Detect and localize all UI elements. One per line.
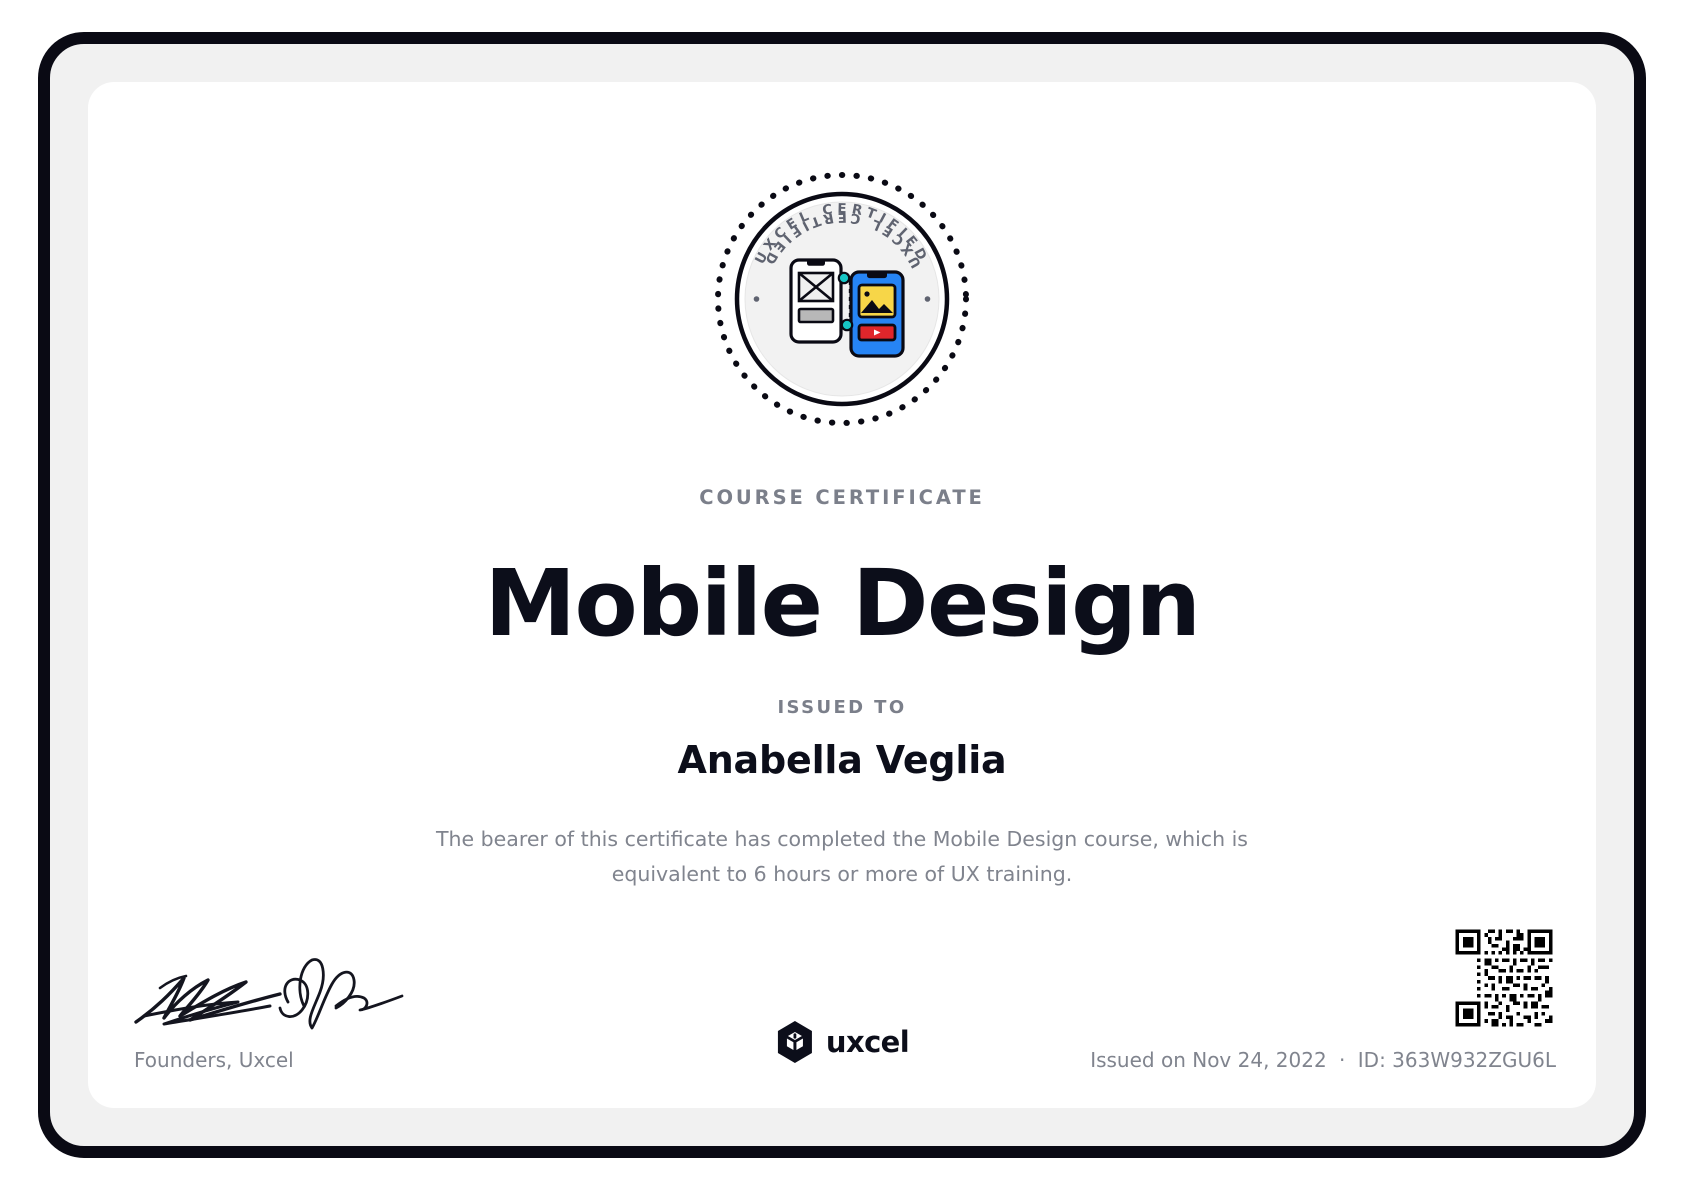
meta-separator: ·: [1333, 1048, 1351, 1072]
certificate-id-text: ID: 363W932ZGU6L: [1358, 1048, 1556, 1072]
issuance-block: Issued on Nov 24, 2022 · ID: 363W932ZGU6…: [1090, 926, 1556, 1072]
uxcel-certified-seal-icon: UXCEL CERTIFIED UXCEL CERTIFIED: [711, 168, 973, 430]
certificate-panel: UXCEL CERTIFIED UXCEL CERTIFIED: [88, 82, 1596, 1108]
issuance-meta: Issued on Nov 24, 2022 · ID: 363W932ZGU6…: [1090, 1048, 1556, 1072]
certificate-description: The bearer of this certificate has compl…: [388, 822, 1296, 893]
certificate-title: Mobile Design: [88, 554, 1596, 653]
issued-to-label: ISSUED TO: [88, 697, 1596, 718]
founders-caption: Founders, Uxcel: [130, 1048, 460, 1072]
signature-block: Founders, Uxcel: [130, 954, 460, 1072]
uxcel-brand-logo: uxcel: [775, 1020, 909, 1064]
issued-on-text: Issued on Nov 24, 2022: [1090, 1048, 1327, 1072]
uxcel-hexagon-cube-icon: [775, 1020, 815, 1064]
handwritten-signatures-icon: [130, 954, 420, 1038]
verification-qr-code-icon: [1452, 926, 1556, 1030]
uxcel-wordmark: uxcel: [826, 1025, 909, 1059]
certificate-footer: Founders, Uxcel uxcel: [88, 888, 1596, 1108]
certificate-kind-label: COURSE CERTIFICATE: [88, 486, 1596, 509]
recipient-name: Anabella Veglia: [88, 738, 1596, 782]
certificate-frame: UXCEL CERTIFIED UXCEL CERTIFIED: [38, 32, 1646, 1158]
